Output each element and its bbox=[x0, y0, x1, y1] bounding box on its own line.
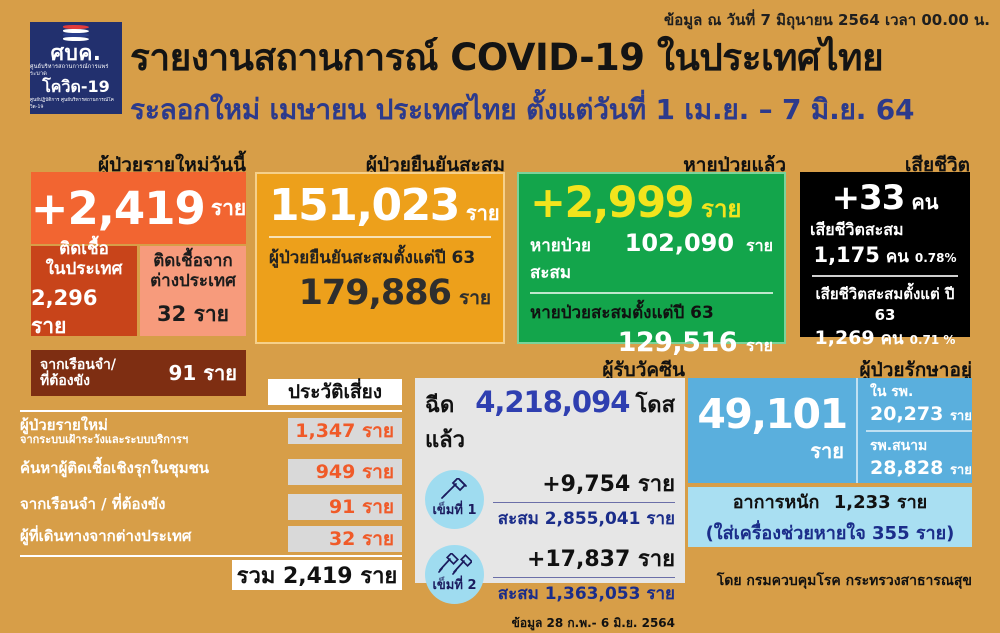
recovered-divider bbox=[530, 292, 773, 294]
risk-history-total: รวม 2,419 ราย bbox=[232, 560, 402, 590]
recovered-unit: ราย bbox=[701, 189, 741, 228]
prison-label-line2: ที่ต้องขัง bbox=[40, 373, 116, 389]
cumulative-unit: ราย bbox=[466, 197, 500, 229]
syringe-single-icon: เข็มที่ 1 bbox=[425, 470, 484, 529]
deaths-unit: คน bbox=[911, 186, 938, 218]
cumulative-since63-unit: ราย bbox=[459, 283, 491, 313]
risk-row-overseas: ผู้ที่เดินทางจากต่างประเทศ 32 ราย bbox=[20, 526, 402, 556]
logo-subline-2: ศูนย์ปฏิบัติการ ศูนย์บริหารสถานการณ์โควิ… bbox=[30, 97, 122, 111]
deaths-since63-label: เสียชีวิตสะสมตั้งแต่ ปี 63 bbox=[810, 282, 960, 324]
treating-hospital: ใน รพ. 20,273 ราย bbox=[858, 378, 972, 430]
imported-label-line2: ต่างประเทศ bbox=[150, 271, 236, 291]
vaccine-head-unit: โดส bbox=[635, 387, 675, 422]
vaccine-footnote: ข้อมูล 28 ก.พ.- 6 มิ.ย. 2564 bbox=[425, 614, 675, 633]
risk-row-surveillance-value: 1,347 ราย bbox=[288, 418, 402, 444]
severe-value: 1,233 ราย bbox=[834, 492, 928, 513]
deaths-cum-label: เสียชีวิตสะสม bbox=[810, 218, 960, 243]
risk-history-rule-top bbox=[20, 410, 402, 412]
risk-row-prison-value: 91 ราย bbox=[288, 494, 402, 520]
prison-label-line1: จากเรือนจำ/ bbox=[40, 357, 116, 373]
vaccine-panel: ฉีดแล้ว 4,218,094 โดส เข็มที่ 1 +9,754 ร… bbox=[415, 378, 685, 583]
risk-row-surveillance-label: ผู้ป่วยรายใหม่ bbox=[20, 418, 188, 434]
imported-cases-card: ติดเชื้อจาก ต่างประเทศ 32 ราย bbox=[140, 246, 246, 336]
imported-value: 32 ราย bbox=[157, 298, 229, 331]
vaccine-dose-1-row: เข็มที่ 1 +9,754 ราย สะสม 2,855,041 ราย bbox=[425, 466, 675, 532]
syringe-double-icon: เข็มที่ 2 bbox=[425, 545, 484, 604]
new-cases-value: +2,419 bbox=[31, 182, 205, 235]
deaths-value: +33 bbox=[832, 178, 905, 218]
domestic-label-line1: ติดเชื้อ bbox=[46, 239, 123, 259]
risk-row-prison: จากเรือนจำ / ที่ต้องขัง 91 ราย bbox=[20, 494, 402, 524]
domestic-value: 2,296 ราย bbox=[31, 286, 137, 343]
cumulative-since63-value: 179,886 bbox=[299, 273, 451, 313]
recovered-since63-label: หายป่วยสะสมตั้งแต่ปี 63 bbox=[530, 299, 773, 326]
recovered-value: +2,999 bbox=[530, 178, 693, 228]
risk-row-active-search: ค้นหาผู้ติดเชื้อเชิงรุกในชุมชน 949 ราย bbox=[20, 459, 402, 489]
cumulative-divider bbox=[269, 236, 491, 238]
deaths-cum-pct: 0.78% bbox=[915, 251, 957, 265]
section-title-risk-history: ประวัติเสี่ยง bbox=[268, 379, 402, 405]
prison-cases-card: จากเรือนจำ/ ที่ต้องขัง 91 ราย bbox=[31, 350, 246, 396]
severe-cases-card: อาการหนัก 1,233 ราย (ใส่เครื่องช่วยหายใจ… bbox=[688, 487, 972, 547]
risk-row-surveillance-sublabel: จากระบบเฝ้าระวังและระบบบริการฯ bbox=[20, 434, 188, 446]
deaths-since63-value: 1,269 bbox=[815, 327, 875, 349]
treating-field-value: 28,828 bbox=[870, 457, 943, 479]
vaccine-dose-1-cumulative: สะสม 2,855,041 ราย bbox=[493, 505, 675, 532]
treating-card: 49,101 ราย ใน รพ. 20,273 ราย รพ.สนาม 28,… bbox=[688, 378, 972, 483]
treating-field-unit: ราย bbox=[950, 463, 972, 478]
risk-row-surveillance: ผู้ป่วยรายใหม่ จากระบบเฝ้าระวังและระบบบร… bbox=[20, 418, 402, 448]
treating-hospital-value: 20,273 bbox=[870, 403, 943, 425]
treating-field-label: รพ.สนาม bbox=[870, 435, 972, 457]
page-subtitle: ระลอกใหม่ เมษายน ประเทศไทย ตั้งแต่วันที่… bbox=[130, 88, 990, 132]
logo-covid-label: โควิด-19 bbox=[42, 77, 110, 97]
cumulative-cases-card: 151,023 ราย ผู้ป่วยยืนยันสะสมตั้งแต่ปี 6… bbox=[255, 172, 505, 344]
risk-row-overseas-value: 32 ราย bbox=[288, 526, 402, 552]
imported-label-line1: ติดเชื้อจาก bbox=[150, 251, 236, 271]
recovered-cum-unit: ราย bbox=[746, 234, 773, 259]
deaths-card: +33 คน เสียชีวิตสะสม 1,175 คน 0.78% เสีย… bbox=[800, 172, 970, 337]
deaths-cum-value: 1,175 bbox=[813, 243, 879, 267]
syringe-pair-glyph bbox=[438, 553, 472, 575]
risk-row-active-search-value: 949 ราย bbox=[288, 459, 402, 485]
deaths-since63-unit: คน bbox=[881, 325, 904, 352]
page-title: รายงานสถานการณ์ COVID-19 ในประเทศไทย bbox=[130, 28, 990, 87]
treating-total-unit: ราย bbox=[810, 435, 844, 467]
treating-total-value: 49,101 bbox=[697, 394, 846, 435]
recovered-cum-value: 102,090 bbox=[625, 229, 734, 257]
domestic-cases-card: ติดเชื้อ ในประเทศ 2,296 ราย bbox=[31, 246, 137, 336]
vaccine-dose-1-divider bbox=[493, 502, 675, 503]
treating-field-hospital: รพ.สนาม 28,828 ราย bbox=[858, 432, 972, 484]
ventilator-text: (ใส่เครื่องช่วยหายใจ 355 ราย) bbox=[706, 518, 955, 547]
sbc-logo: ศบค. ศูนย์บริหารสถานการณ์การแพร่ระบาด โค… bbox=[30, 22, 122, 114]
treating-total: 49,101 ราย bbox=[688, 378, 858, 483]
syringe-glyph bbox=[440, 478, 470, 500]
risk-row-prison-label: จากเรือนจำ / ที่ต้องขัง bbox=[20, 497, 165, 513]
cumulative-since63-label: ผู้ป่วยยืนยันสะสมตั้งแต่ปี 63 bbox=[269, 244, 491, 271]
thai-flag-icon bbox=[63, 25, 89, 41]
new-cases-unit: ราย bbox=[211, 192, 246, 225]
prison-value: 91 ราย bbox=[169, 357, 238, 389]
domestic-label-line2: ในประเทศ bbox=[46, 259, 123, 279]
vaccine-dose-1-label: เข็มที่ 1 bbox=[432, 499, 476, 520]
vaccine-head-label: ฉีดแล้ว bbox=[425, 387, 469, 457]
cumulative-value: 151,023 bbox=[269, 180, 459, 231]
treating-hospital-label: ใน รพ. bbox=[870, 381, 972, 403]
recovered-since63-value: 129,516 bbox=[618, 327, 737, 358]
vaccine-dose-2-row: เข็มที่ 2 +17,837 ราย สะสม 1,363,053 ราย bbox=[425, 541, 675, 607]
deaths-divider bbox=[812, 275, 958, 277]
new-cases-card: +2,419 ราย bbox=[31, 172, 246, 244]
severe-label: อาการหนัก bbox=[733, 492, 820, 513]
risk-row-overseas-label: ผู้ที่เดินทางจากต่างประเทศ bbox=[20, 529, 191, 545]
vaccine-dose-2-label: เข็มที่ 2 bbox=[432, 574, 476, 595]
logo-acronym: ศบค. bbox=[51, 42, 102, 64]
vaccine-head-value: 4,218,094 bbox=[475, 385, 629, 419]
recovered-cum-label: หายป่วยสะสม bbox=[530, 232, 613, 286]
logo-subline-1: ศูนย์บริหารสถานการณ์การแพร่ระบาด bbox=[30, 64, 122, 77]
vaccine-dose-1-new: +9,754 ราย bbox=[493, 466, 675, 501]
treating-hospital-unit: ราย bbox=[950, 409, 972, 424]
credit-line: โดย กรมควบคุมโรค กระทรวงสาธารณสุข bbox=[640, 570, 972, 592]
deaths-since63-pct: 0.71 % bbox=[910, 333, 956, 347]
deaths-cum-unit: คน bbox=[886, 243, 909, 270]
recovered-card: +2,999 ราย หายป่วยสะสม 102,090 ราย หายป่… bbox=[517, 172, 786, 344]
risk-row-active-search-label: ค้นหาผู้ติดเชื้อเชิงรุกในชุมชน bbox=[20, 461, 209, 477]
